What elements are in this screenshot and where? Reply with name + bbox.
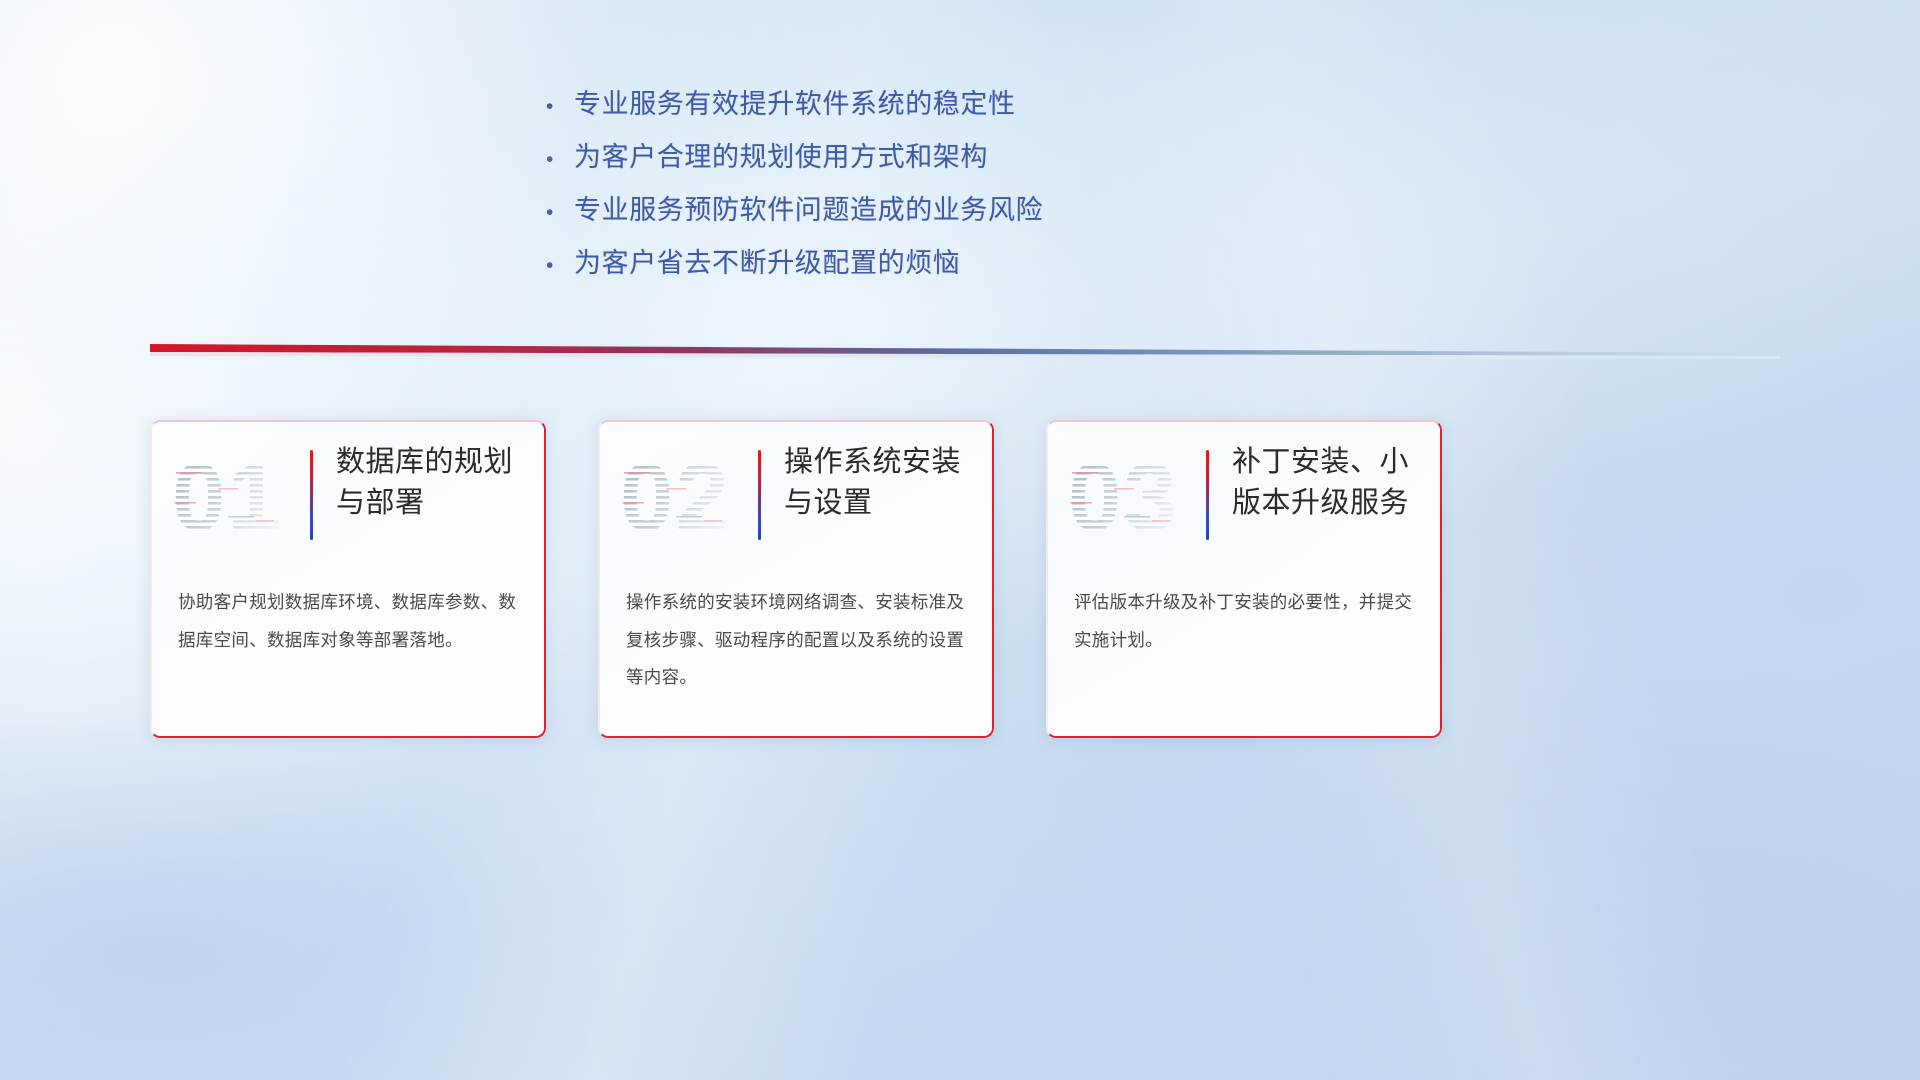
bullet-dot-icon: •	[540, 96, 574, 117]
divider-shape-icon	[150, 342, 1780, 364]
striped-number-icon: 02	[618, 442, 746, 546]
card-title-line1: 数据库的规划	[336, 442, 532, 483]
service-card[interactable]: 01 数据库的规划 与部署 协助客户规划数据库环境、数据库参数、数据库空间、数据…	[150, 420, 546, 738]
bullet-dot-icon: •	[540, 202, 574, 223]
service-card[interactable]: 03 补丁安装、小 版本升级服务 评估版本升级及补丁安装的必要性，并提交实施计划…	[1046, 420, 1442, 738]
card-title-line1: 操作系统安装	[784, 442, 980, 483]
svg-text:02: 02	[620, 444, 731, 546]
benefits-bullet-list: • 专业服务有效提升软件系统的稳定性 • 为客户合理的规划使用方式和架构 • 专…	[540, 88, 1440, 300]
card-accent-bar	[310, 450, 313, 540]
card-title-line1: 补丁安装、小	[1232, 442, 1428, 483]
card-title-line2: 与设置	[784, 483, 980, 524]
striped-number-icon: 01	[170, 442, 298, 546]
card-accent-bar	[1206, 450, 1209, 540]
service-card[interactable]: 02 操作系统安装 与设置 操作系统的安装环境网络调查、安装标准及复核步骤、驱动…	[598, 420, 994, 738]
list-item: • 为客户合理的规划使用方式和架构	[540, 141, 1440, 194]
card-title-line2: 版本升级服务	[1232, 483, 1428, 524]
list-item: • 为客户省去不断升级配置的烦恼	[540, 247, 1440, 300]
card-title: 数据库的规划 与部署	[336, 442, 532, 524]
service-cards: 01 数据库的规划 与部署 协助客户规划数据库环境、数据库参数、数据库空间、数据…	[150, 420, 1770, 740]
bullet-text: 为客户合理的规划使用方式和架构	[574, 141, 988, 175]
svg-text:03: 03	[1068, 444, 1179, 546]
card-title: 操作系统安装 与设置	[784, 442, 980, 524]
card-number-watermark: 03	[1066, 442, 1194, 546]
card-title-line2: 与部署	[336, 483, 532, 524]
list-item: • 专业服务预防软件问题造成的业务风险	[540, 194, 1440, 247]
bullet-dot-icon: •	[540, 255, 574, 276]
card-header: 03 补丁安装、小 版本升级服务	[1046, 420, 1442, 568]
card-body-text: 操作系统的安装环境网络调查、安装标准及复核步骤、驱动程序的配置以及系统的设置等内…	[626, 584, 974, 697]
card-header: 02 操作系统安装 与设置	[598, 420, 994, 568]
bullet-dot-icon: •	[540, 149, 574, 170]
card-number-watermark: 01	[170, 442, 298, 546]
bullet-text: 专业服务有效提升软件系统的稳定性	[574, 88, 1016, 122]
bullet-text: 为客户省去不断升级配置的烦恼	[574, 247, 960, 281]
card-number-watermark: 02	[618, 442, 746, 546]
card-header: 01 数据库的规划 与部署	[150, 420, 546, 568]
section-divider	[150, 342, 1780, 364]
bullet-text: 专业服务预防软件问题造成的业务风险	[574, 194, 1043, 228]
card-accent-bar	[758, 450, 761, 540]
card-title: 补丁安装、小 版本升级服务	[1232, 442, 1428, 524]
striped-number-icon: 03	[1066, 442, 1194, 546]
card-body-text: 评估版本升级及补丁安装的必要性，并提交实施计划。	[1074, 584, 1422, 659]
card-body-text: 协助客户规划数据库环境、数据库参数、数据库空间、数据库对象等部署落地。	[178, 584, 526, 659]
svg-text:01: 01	[172, 444, 283, 546]
list-item: • 专业服务有效提升软件系统的稳定性	[540, 88, 1440, 141]
